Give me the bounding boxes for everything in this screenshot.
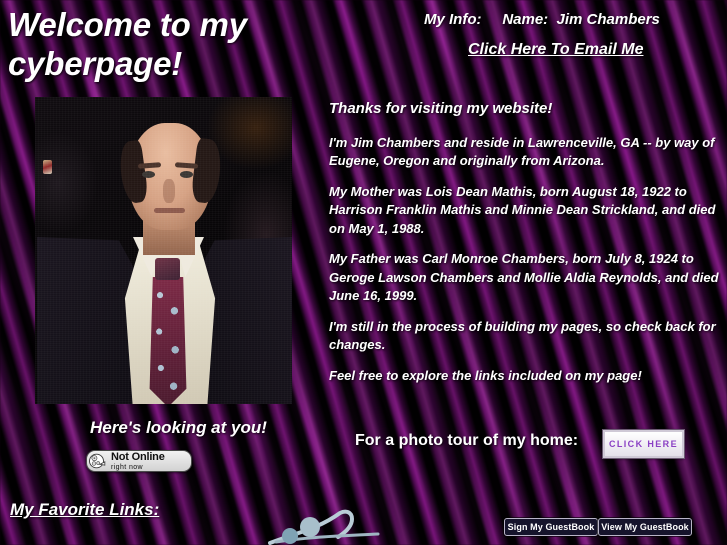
my-info-row: My Info: Name: Jim Chambers xyxy=(424,11,660,28)
icq-status-line: Not Online xyxy=(111,452,165,463)
body-paragraph: My Mother was Lois Dean Mathis, born Aug… xyxy=(329,183,721,238)
icq-status-subline: right now xyxy=(111,464,165,471)
body-copy: I'm Jim Chambers and reside in Lawrencev… xyxy=(329,134,721,397)
click-here-button[interactable]: CLICK HERE xyxy=(603,430,684,458)
portrait-photo xyxy=(35,97,292,404)
photo-tour-label: For a photo tour of my home: xyxy=(355,432,578,450)
photo-caption: Here's looking at you! xyxy=(90,418,267,438)
sign-guestbook-button[interactable]: Sign My GuestBook xyxy=(504,518,598,536)
page-title: Welcome to my cyberpage! xyxy=(8,6,338,83)
icq-badge-text: Not Online right now xyxy=(111,452,165,471)
greeting-heading: Thanks for visiting my website! xyxy=(329,100,552,117)
body-paragraph: I'm still in the process of building my … xyxy=(329,318,721,355)
body-paragraph: I'm Jim Chambers and reside in Lawrencev… xyxy=(329,134,721,171)
body-paragraph: My Father was Carl Monroe Chambers, born… xyxy=(329,250,721,305)
icq-status-badge[interactable]: Not Online right now xyxy=(86,450,192,472)
abstract-swoosh-icon xyxy=(266,503,384,545)
favorite-links-link[interactable]: My Favorite Links: xyxy=(10,500,190,521)
page-root: Welcome to my cyberpage! My Info: Name: … xyxy=(0,0,727,545)
photo-scan-grain xyxy=(35,97,292,404)
view-guestbook-button[interactable]: View My GuestBook xyxy=(598,518,692,536)
body-paragraph: Feel free to explore the links included … xyxy=(329,367,721,385)
icq-flower-icon xyxy=(89,453,109,469)
email-me-link[interactable]: Click Here To Email Me xyxy=(468,41,643,59)
